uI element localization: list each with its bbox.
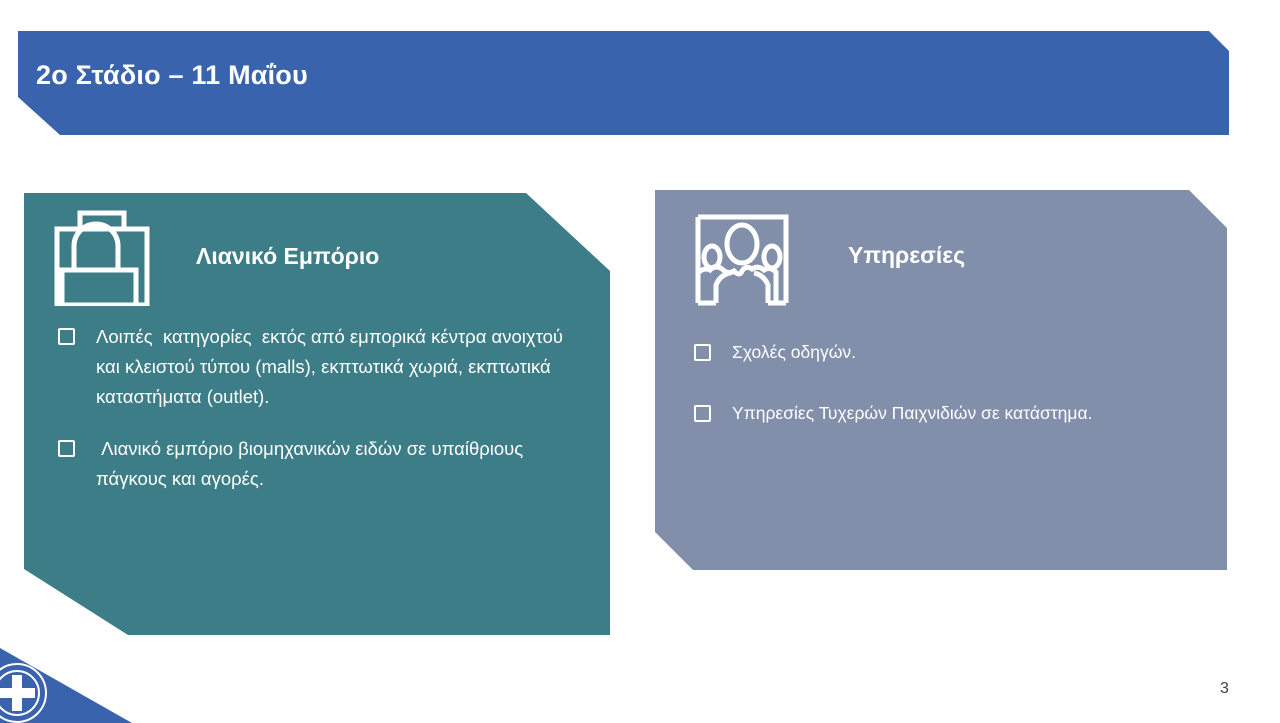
group-of-people-icon [694, 213, 790, 312]
list-item-label: Σχολές οδηγών. [732, 338, 1124, 367]
slide: 2ο Στάδιο – 11 Μαΐου Λιανικό Εμπόριο Λοι… [0, 0, 1280, 723]
page-title: 2ο Στάδιο – 11 Μαΐου [36, 60, 308, 91]
card-title-retail: Λιανικό Εμπόριο [196, 243, 379, 270]
greek-government-emblem-icon [0, 662, 48, 723]
list-item: Λιανικό εμπόριο βιομηχανικών ειδών σε υπ… [58, 434, 588, 494]
list-item-label: Λοιπές κατηγορίες εκτός από εμπορικά κέν… [96, 322, 588, 412]
page-number: 3 [1220, 680, 1229, 698]
square-bullet-icon [694, 344, 711, 361]
list-item-label: Λιανικό εμπόριο βιομηχανικών ειδών σε υπ… [96, 434, 588, 494]
square-bullet-icon [58, 328, 75, 345]
list-item-label: Υπηρεσίες Τυχερών Παιχνιδιών σε κατάστημ… [732, 399, 1124, 428]
list-item: Σχολές οδηγών. [694, 338, 1124, 367]
shopping-bag-icon [52, 206, 152, 311]
bullet-list-retail: Λοιπές κατηγορίες εκτός από εμπορικά κέν… [58, 322, 588, 516]
card-title-services: Υπηρεσίες [848, 242, 965, 269]
list-item: Λοιπές κατηγορίες εκτός από εμπορικά κέν… [58, 322, 588, 412]
square-bullet-icon [694, 405, 711, 422]
list-item: Υπηρεσίες Τυχερών Παιχνιδιών σε κατάστημ… [694, 399, 1124, 428]
bullet-list-services: Σχολές οδηγών. Υπηρεσίες Τυχερών Παιχνιδ… [694, 338, 1124, 460]
square-bullet-icon [58, 440, 75, 457]
